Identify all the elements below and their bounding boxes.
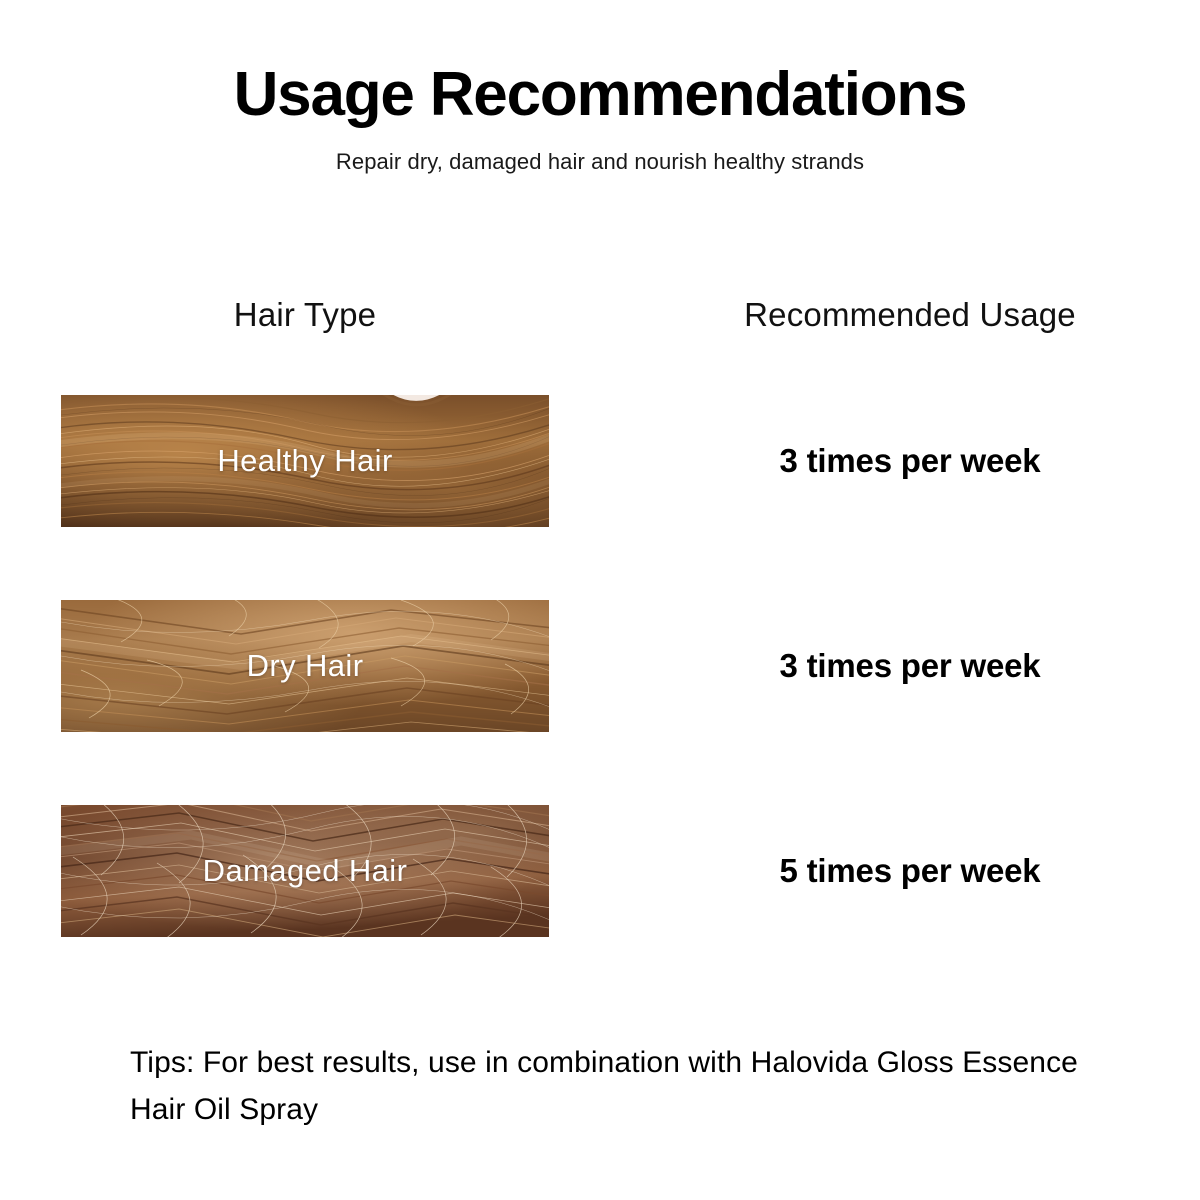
hair-type-label: Healthy Hair [61,395,549,527]
usage-table: Hair Type Recommended Usage [0,0,1200,1200]
table-row: Damaged Hair 5 times per week [0,805,1200,937]
usage-value: 3 times per week [620,395,1200,527]
table-row: Dry Hair 3 times per week [0,600,1200,732]
table-row: Healthy Hair 3 times per week [0,395,1200,527]
column-header-recommended-usage: Recommended Usage [620,296,1200,334]
hair-type-label: Damaged Hair [61,805,549,937]
hair-type-image-dry: Dry Hair [61,600,549,732]
column-header-hair-type: Hair Type [61,296,549,334]
hair-type-image-healthy: Healthy Hair [61,395,549,527]
usage-value: 5 times per week [620,805,1200,937]
usage-recommendations-page: Usage Recommendations Repair dry, damage… [0,0,1200,1200]
hair-type-image-damaged: Damaged Hair [61,805,549,937]
hair-type-label: Dry Hair [61,600,549,732]
tips-text: Tips: For best results, use in combinati… [130,1040,1110,1133]
usage-value: 3 times per week [620,600,1200,732]
